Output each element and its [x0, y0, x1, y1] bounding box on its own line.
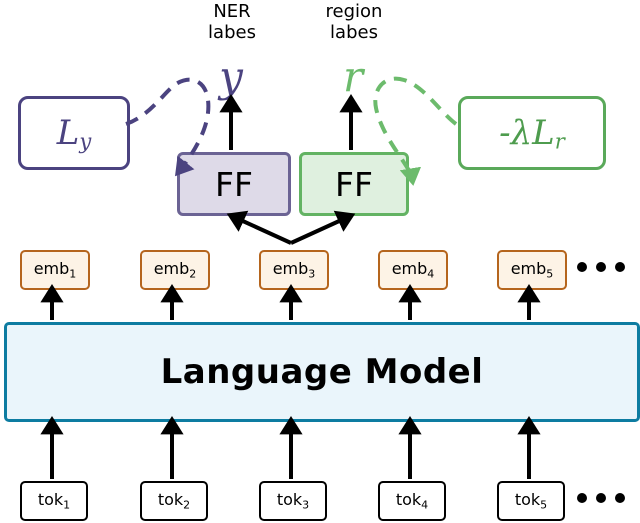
emb-label-4: emb4 — [392, 259, 435, 281]
tok-ellipsis-dot-3 — [615, 493, 625, 503]
ff-right-box: FF — [299, 152, 409, 216]
tok-box-3: tok3 — [259, 481, 327, 521]
emb-box-4: emb4 — [378, 250, 448, 290]
tok-ellipsis-dot-2 — [596, 493, 606, 503]
figure-canvas: NER labes region labes y r Ly -λLr FF FF… — [0, 0, 640, 523]
region-labels-line1: region — [302, 2, 406, 23]
ner-labels-line1: NER — [180, 2, 284, 23]
tok-box-5: tok5 — [497, 481, 565, 521]
emb-box-5: emb5 — [497, 250, 567, 290]
tok-box-4: tok4 — [378, 481, 446, 521]
loss-y-box: Ly — [18, 96, 130, 170]
emb-box-3: emb3 — [259, 250, 329, 290]
region-labels-caption: region labes — [302, 2, 406, 43]
tok-label-4: tok4 — [396, 490, 428, 512]
emb-ellipsis — [577, 262, 625, 272]
loss-y-label: Ly — [57, 113, 92, 154]
tok-ellipsis-dot-1 — [577, 493, 587, 503]
token-to-lm-arrows — [52, 424, 529, 479]
tok-box-2: tok2 — [140, 481, 208, 521]
tok-label-1: tok1 — [38, 490, 70, 512]
tok-label-5: tok5 — [515, 490, 547, 512]
emb-box-2: emb2 — [140, 250, 210, 290]
r-symbol: r — [320, 56, 386, 98]
ff-left-box: FF — [177, 152, 291, 216]
language-model-box: Language Model — [4, 322, 640, 422]
tok-ellipsis — [577, 493, 625, 503]
emb-ellipsis-dot-3 — [615, 262, 625, 272]
ner-labels-caption: NER labes — [180, 2, 284, 43]
emb-label-3: emb3 — [273, 259, 316, 281]
y-symbol: y — [198, 56, 264, 98]
region-labels-line2: labes — [302, 23, 406, 44]
emb-box-1: emb1 — [20, 250, 90, 290]
ner-labels-line2: labes — [180, 23, 284, 44]
emb-ellipsis-dot-2 — [596, 262, 606, 272]
ff-to-symbol-arrows — [231, 102, 351, 150]
emb-label-1: emb1 — [34, 259, 77, 281]
loss-r-label: -λLr — [499, 113, 565, 154]
emb-label-5: emb5 — [511, 259, 554, 281]
emb-label-2: emb2 — [154, 259, 197, 281]
loss-r-box: -λLr — [458, 96, 606, 170]
tok-label-2: tok2 — [158, 490, 190, 512]
tok-box-1: tok1 — [20, 481, 88, 521]
tok-label-3: tok3 — [277, 490, 309, 512]
lm-to-emb-arrows — [52, 292, 529, 320]
emb-ellipsis-dot-1 — [577, 262, 587, 272]
emb-to-ff-arrows — [234, 217, 348, 243]
